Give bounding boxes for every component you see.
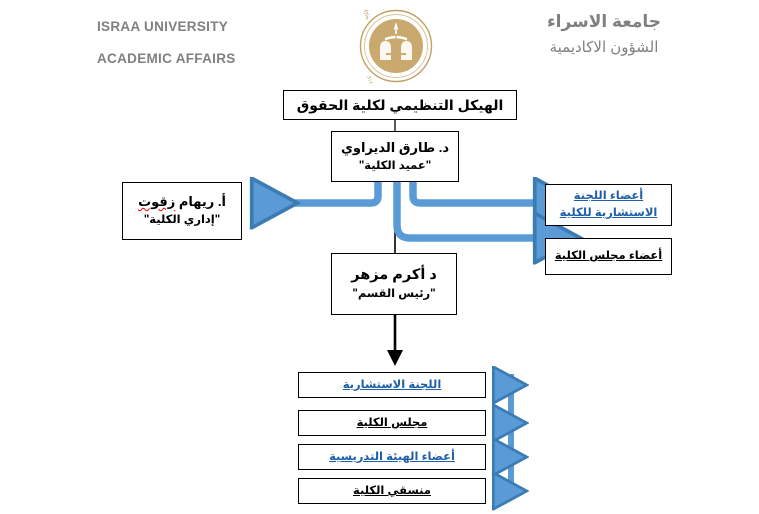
connector-head-to-rows-arrowhead [387,350,403,366]
department-head-role: "رئيس القسم" [352,286,435,303]
admin-name-misspelled-word: زقوت [138,194,175,209]
advisory-committee-line2[interactable]: الاستشارية للكلية [560,205,658,222]
admin-role: "إداري الكلية" [144,212,220,229]
row-4-label: منسقي الكلية [353,483,431,500]
dean-name: د. طارق الديراوي [341,139,449,158]
connector-dean-to-council-members [397,182,537,238]
node-department-head[interactable]: د أكرم مزهر "رئيس القسم" [331,253,457,315]
node-faculty-administrator[interactable]: أ. ريهام زقوت "إداري الكلية" [122,182,242,240]
node-faculty-council-members[interactable]: أعضاء مجلس الكلية [545,238,672,275]
node-row-faculty-coordinators[interactable]: منسقي الكلية [298,478,486,504]
header-university-name-en: ISRAA UNIVERSITY [97,19,228,34]
faculty-council-members-label: أعضاء مجلس الكلية [555,248,662,265]
chart-title-box: الهيكل التنظيمي لكلية الحقوق [283,90,517,120]
chart-title-text: الهيكل التنظيمي لكلية الحقوق [297,95,504,115]
header-academic-affairs-ar: الشؤون الاكاديمية [494,38,714,56]
admin-name-prefix: أ. ريهام [175,194,226,209]
row-1-label[interactable]: اللجنة الاستشارية [343,377,442,394]
department-head-name: د أكرم مزهر [351,265,437,286]
admin-name: أ. ريهام زقوت [138,193,226,212]
advisory-committee-line1[interactable]: أعضاء اللجنة [574,188,643,205]
israa-university-seal-icon: جامعة الإسراء ISRAA UNIVERSITY [358,8,434,84]
connector-dean-to-admin [254,182,378,203]
node-row-advisory-committee[interactable]: اللجنة الاستشارية [298,372,486,398]
organizational-chart-page: ISRAA UNIVERSITY ACADEMIC AFFAIRS جامعة … [0,0,759,514]
connector-dean-to-advisory-committee [413,182,537,203]
row-3-label[interactable]: أعضاء الهيئة التدريسية [329,449,455,466]
header-university-name-ar: جامعة الاسراء [494,12,714,32]
header-academic-affairs-en: ACADEMIC AFFAIRS [97,51,236,66]
node-row-teaching-staff[interactable]: أعضاء الهيئة التدريسية [298,444,486,470]
node-dean[interactable]: د. طارق الديراوي "عميد الكلية" [331,131,459,182]
dean-role: "عميد الكلية" [359,158,431,175]
node-row-faculty-council[interactable]: مجلس الكلية [298,410,486,436]
node-advisory-committee-members[interactable]: أعضاء اللجنة الاستشارية للكلية [545,184,672,226]
row-2-label: مجلس الكلية [357,415,428,432]
